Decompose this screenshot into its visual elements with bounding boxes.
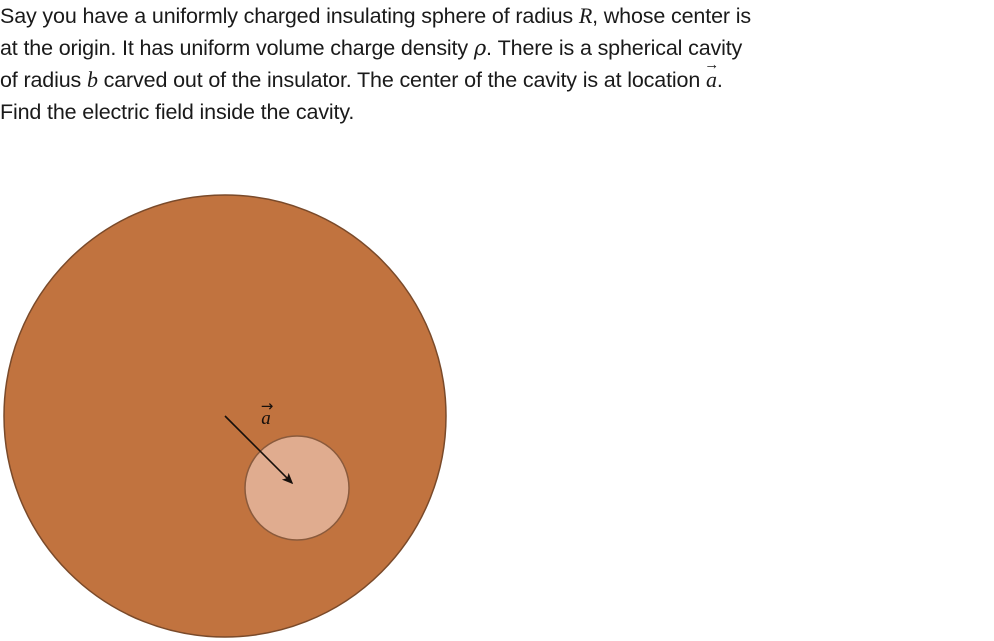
math-variable-R: R: [579, 3, 592, 28]
vector-label-a: a: [261, 408, 271, 429]
problem-text-run: Say you have a uniformly charged insulat…: [0, 4, 579, 28]
math-vector-a: →a: [706, 69, 717, 91]
problem-text-run: of radius: [0, 68, 87, 92]
problem-line: at the origin. It has uniform volume cha…: [0, 32, 994, 64]
problem-statement: Say you have a uniformly charged insulat…: [0, 0, 994, 128]
problem-text-run: Find the electric field inside the cavit…: [0, 100, 354, 124]
problem-text-run: .: [717, 68, 723, 92]
problem-line: of radius b carved out of the insulator.…: [0, 64, 994, 96]
math-variable-b: b: [87, 67, 98, 92]
math-symbol-rho: ρ: [474, 36, 486, 60]
problem-line: Say you have a uniformly charged insulat…: [0, 0, 994, 32]
charged-sphere-with-cavity-diagram: → a: [0, 150, 500, 641]
problem-text-run: . There is a spherical cavity: [486, 36, 742, 60]
problem-text-run: , whose center is: [592, 4, 751, 28]
problem-text-run: at the origin. It has uniform volume cha…: [0, 36, 474, 60]
problem-text-run: carved out of the insulator. The center …: [98, 68, 706, 92]
problem-line: Find the electric field inside the cavit…: [0, 96, 994, 128]
vector-base-letter: a: [706, 67, 717, 92]
